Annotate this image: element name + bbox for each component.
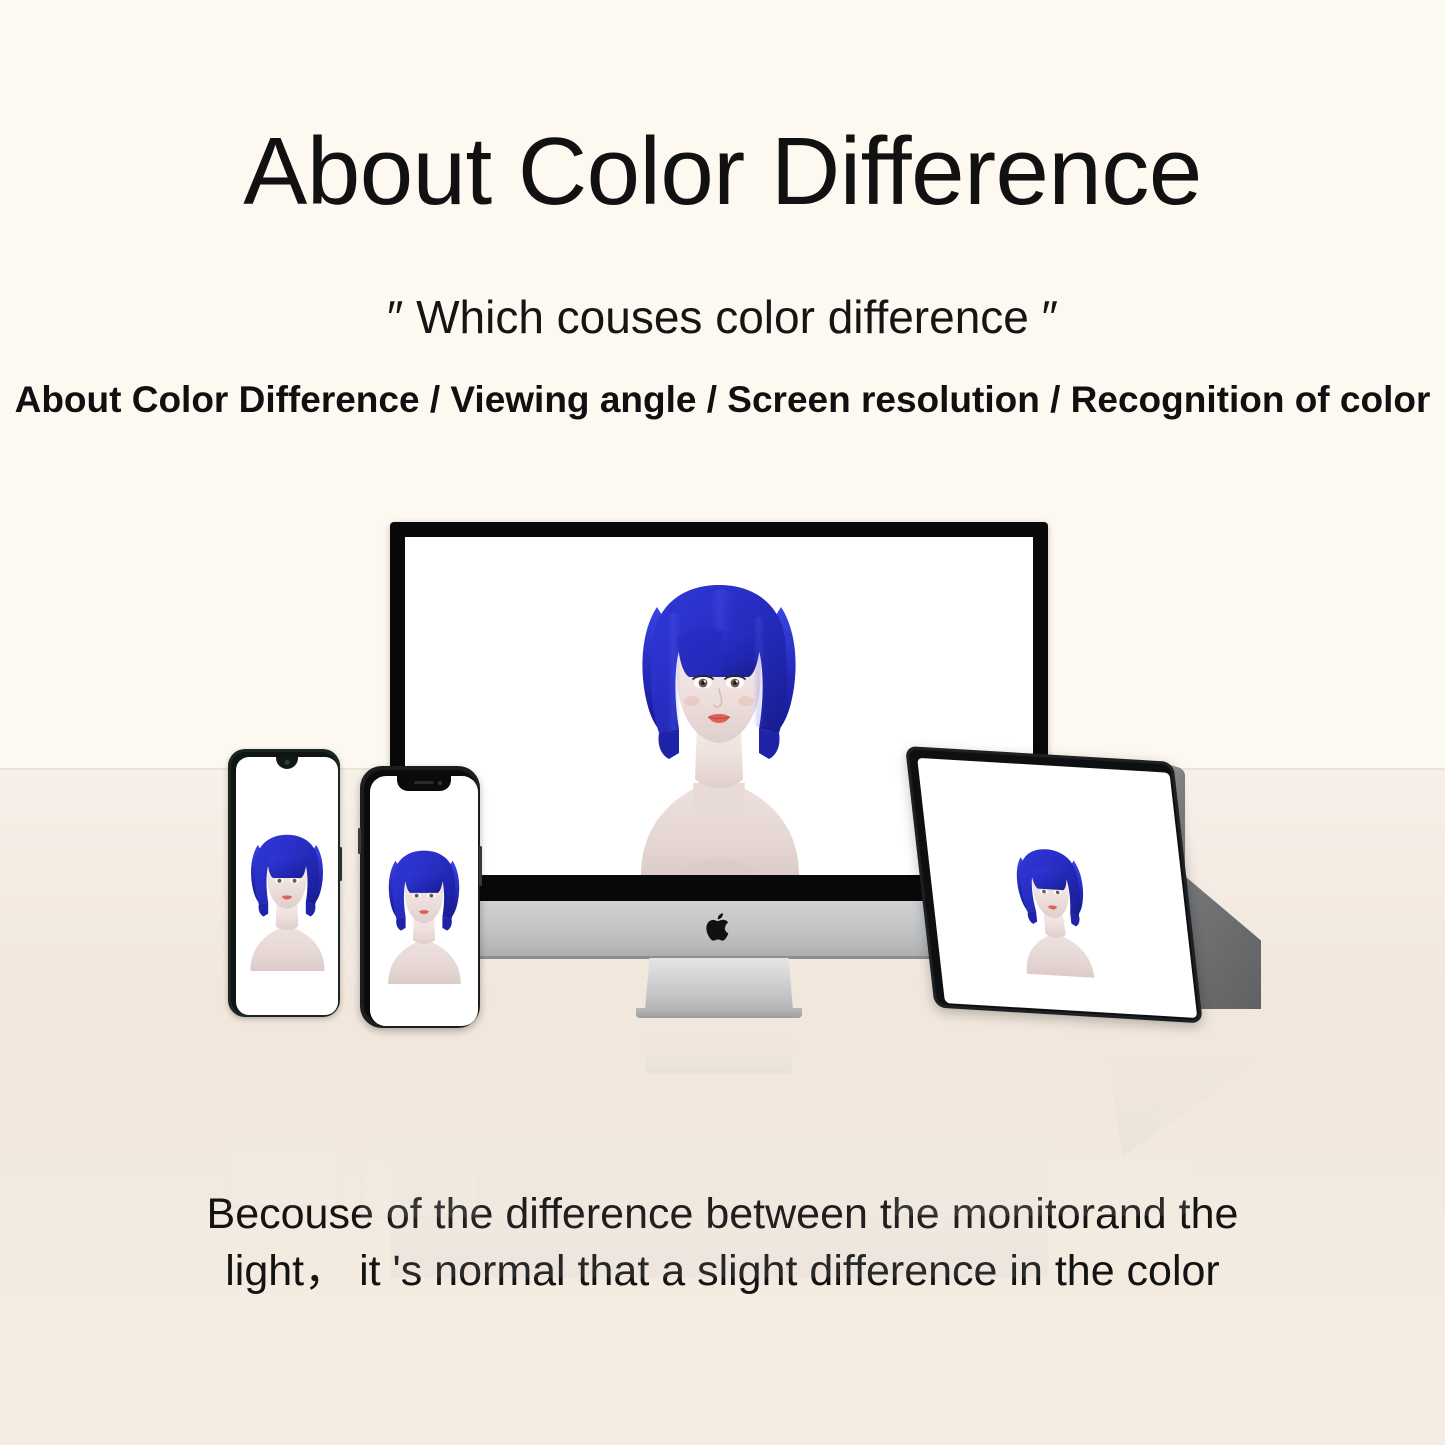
earpiece-speaker-icon	[414, 781, 434, 784]
device-iphone[interactable]	[360, 766, 480, 1028]
android-phone-screen	[236, 757, 338, 1015]
wig-image-iphone	[370, 776, 478, 1026]
iphone-frame	[364, 770, 476, 1024]
wig-image-tablet	[917, 758, 1197, 1018]
disclaimer-line-2: light， it 's normal that a slight differ…	[40, 1243, 1405, 1300]
page-subtitle: ″ Which couses color difference ″	[0, 292, 1445, 343]
page-title: About Color Difference	[0, 122, 1445, 223]
device-android-phone[interactable]	[228, 749, 340, 1017]
color-difference-infographic: About Color Difference ″ Which couses co…	[0, 0, 1445, 1445]
iphone-screen	[370, 776, 478, 1026]
imac-stand-neck	[645, 958, 793, 1010]
android-phone-frame	[231, 752, 337, 1014]
tablet-frame	[908, 749, 1199, 1020]
front-camera-icon	[438, 781, 442, 785]
iphone-notch	[397, 776, 451, 791]
apple-logo-icon	[705, 910, 733, 944]
tablet-screen	[917, 758, 1197, 1018]
imac-stand-foot	[636, 1008, 802, 1018]
iphone-power-button[interactable]	[479, 846, 482, 886]
device-surface-tablet[interactable]	[905, 740, 1280, 1030]
disclaimer-line-1: Becouse of the difference between the mo…	[40, 1186, 1405, 1243]
disclaimer-note: Becouse of the difference between the mo…	[40, 1186, 1405, 1300]
tablet-body	[905, 746, 1203, 1023]
android-power-button[interactable]	[339, 847, 342, 881]
topic-list: About Color Difference / Viewing angle /…	[0, 380, 1445, 421]
wig-image-android	[236, 757, 338, 1015]
iphone-volume-button[interactable]	[358, 828, 361, 854]
